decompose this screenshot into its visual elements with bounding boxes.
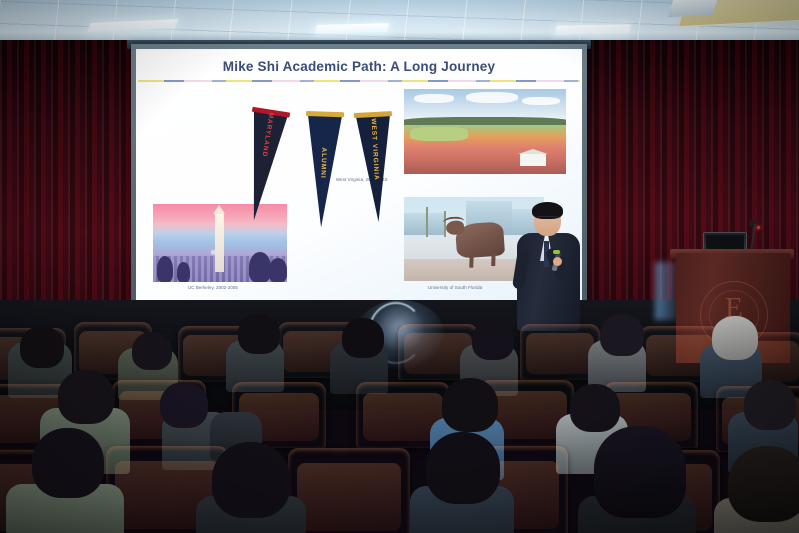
audience-person-head xyxy=(472,320,514,360)
eyeglasses-icon xyxy=(536,216,559,222)
usf-bull-statue xyxy=(455,221,505,258)
presentation-photo-scene: Mike Shi Academic Path: A Long Journey U… xyxy=(0,0,799,533)
photo-west-virginia xyxy=(404,89,566,174)
wv-farmhouse xyxy=(520,154,546,166)
berkeley-tree xyxy=(177,262,190,282)
audience-person-head-grey-hair xyxy=(712,316,758,360)
audience-seating xyxy=(0,300,799,533)
usf-bull-leg xyxy=(491,253,495,266)
chair xyxy=(288,448,410,533)
wv-ridge-line xyxy=(404,117,566,125)
speaker-hand xyxy=(553,257,562,266)
audience-person-head xyxy=(728,446,799,522)
wv-green-field xyxy=(410,127,468,141)
pennant-group: MARYLAND ALUMNI WEST VIRGINIA xyxy=(250,107,400,242)
usf-palm-tree xyxy=(426,207,428,237)
ceiling-vent-panel-small xyxy=(668,0,718,17)
berkeley-tree xyxy=(249,252,271,282)
berkeley-tree xyxy=(269,258,287,282)
wv-cloud xyxy=(522,97,560,105)
berkeley-campanile-icon xyxy=(215,212,224,272)
pennant-body-maryland xyxy=(237,111,287,223)
audience-person-head xyxy=(342,318,384,358)
usf-bull-leg xyxy=(469,255,473,268)
audience-person-head xyxy=(132,332,172,370)
slide-title: Mike Shi Academic Path: A Long Journey xyxy=(136,59,582,74)
berkeley-tree xyxy=(157,256,173,282)
audience-person-head xyxy=(426,432,500,504)
audience-person-head xyxy=(32,428,104,498)
microphone-status-led xyxy=(757,226,760,229)
audience-person-head xyxy=(212,442,290,518)
wv-cloud xyxy=(414,94,454,103)
audience-person-head xyxy=(744,380,796,430)
caption-usf: University of South Florida xyxy=(428,285,482,290)
audience-person-head xyxy=(442,378,498,432)
audience-person-head xyxy=(238,314,280,354)
pennant-west-virginia: WEST VIRGINIA xyxy=(356,115,396,223)
audience-person-head xyxy=(58,370,114,424)
pennant-label-cal: ALUMNI xyxy=(319,147,327,179)
audience-person-head xyxy=(20,326,64,368)
caption-uc-berkeley: UC Berkeley, 2002-2005 xyxy=(188,285,238,290)
usf-bull-horns xyxy=(442,216,465,229)
audience-person-head xyxy=(600,314,644,356)
pennant-maryland: MARYLAND xyxy=(237,111,287,223)
microphone-green-band xyxy=(553,250,560,254)
usf-building xyxy=(404,213,444,235)
wv-cloud xyxy=(466,92,518,103)
ceiling-light-3 xyxy=(555,24,630,34)
audience-person-head-long-hair xyxy=(594,426,686,518)
pennant-cal-alumni: ALUMNI xyxy=(304,115,342,228)
slide-title-divider xyxy=(138,80,580,82)
audience-person-head xyxy=(570,384,620,432)
audience-person-head xyxy=(160,382,208,428)
